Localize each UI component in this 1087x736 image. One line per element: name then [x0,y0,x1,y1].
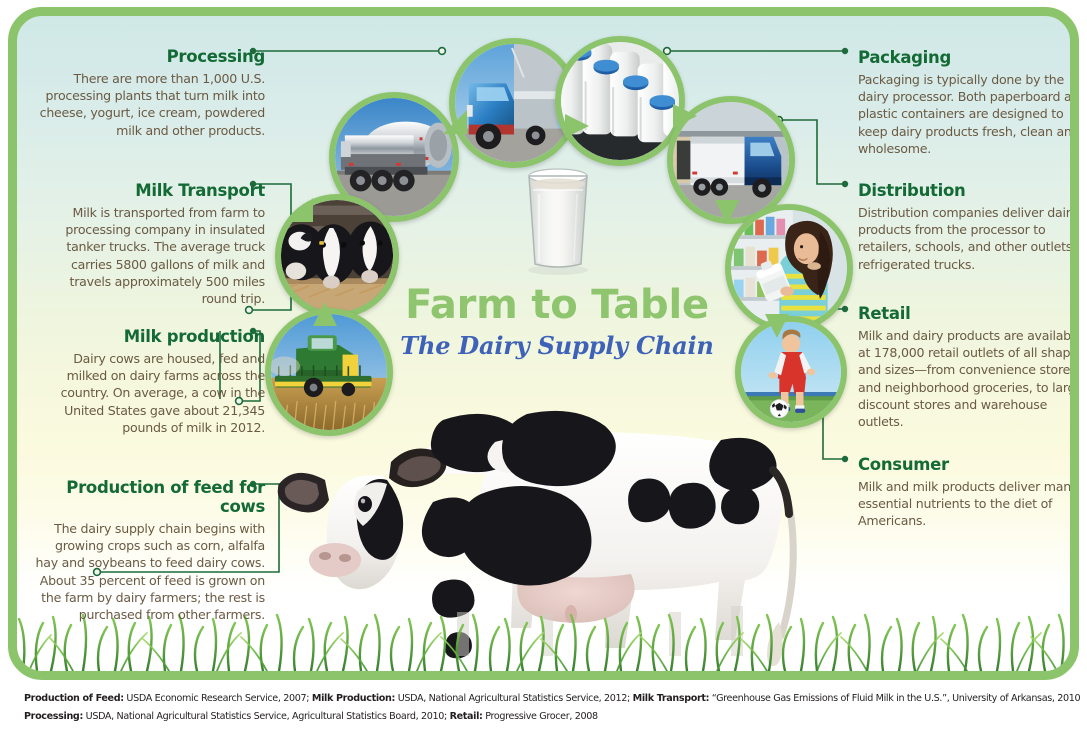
step-heading-production-of-feed: Production of feed for cows [29,479,265,517]
step-heading-milk-production: Milk production [37,328,265,347]
step-body-milk-transport: Milk is transported from farm to process… [37,204,265,308]
photo-node-milk-jugs-packaging[interactable] [555,36,685,166]
source-value-production-of-feed: USDA Economic Research Service, 2007; [124,693,312,704]
step-heading-packaging: Packaging [858,49,1079,68]
source-label-production-of-feed: Production of Feed: [24,693,124,704]
step-heading-processing: Processing [37,48,265,67]
step-heading-retail: Retail [858,305,1079,324]
page-subtitle: The Dairy Supply Chain [377,331,737,360]
glass-of-milk-icon [519,164,597,276]
source-label-milk-production: Milk Production: [312,693,395,704]
step-heading-consumer: Consumer [858,456,1079,475]
step-body-milk-production: Dairy cows are housed, fed and milked on… [37,350,265,436]
step-block-processing: Processing There are more than 1,000 U.S… [37,48,265,139]
photo-node-woman-shopping-milk[interactable] [725,204,853,332]
step-block-retail: Retail Milk and dairy products are avail… [858,305,1079,430]
step-block-distribution: Distribution Distribution companies deli… [858,182,1079,273]
step-block-milk-production: Milk production Dairy cows are housed, f… [37,328,265,436]
step-block-milk-transport: Milk Transport Milk is transported from … [37,182,265,307]
sources-line-1: Production of Feed: USDA Economic Resear… [24,690,1063,708]
page-title: Farm to Table [377,284,737,326]
source-value-retail: Progressive Grocer, 2008 [483,711,598,722]
step-block-production-of-feed: Production of feed for cows The dairy su… [29,479,265,623]
step-heading-distribution: Distribution [858,182,1079,201]
sources-footer: Production of Feed: USDA Economic Resear… [0,690,1087,725]
source-label-processing: Processing: [24,711,83,722]
step-block-packaging: Packaging Packaging is typically done by… [858,49,1079,157]
source-label-retail: Retail: [450,711,483,722]
photo-node-holstein-cows-in-barn[interactable] [275,194,399,318]
glass-of-milk-graphic [519,164,597,276]
source-value-processing: USDA, National Agricultural Statistics S… [83,711,450,722]
step-body-production-of-feed: The dairy supply chain begins with growi… [29,520,265,624]
holstein-cows-in-barn-photo [281,200,393,312]
panel-background: Farm to Table The Dairy Supply Chain [17,16,1070,671]
source-value-milk-production: USDA, National Agricultural Statistics S… [395,693,633,704]
step-heading-milk-transport: Milk Transport [37,182,265,201]
source-label-milk-transport: Milk Transport: [633,693,709,704]
step-body-retail: Milk and dairy products are available at… [858,327,1079,431]
semi-trailer-loading-dock-photo [673,102,789,218]
step-body-processing: There are more than 1,000 U.S. processin… [37,70,265,139]
step-block-consumer: Consumer Milk and milk products deliver … [858,456,1079,530]
step-body-distribution: Distribution companies deliver dairy pro… [858,204,1079,273]
infographic-root: Farm to Table The Dairy Supply Chain [0,0,1087,736]
source-value-milk-transport: “Greenhouse Gas Emissions of Fluid Milk … [709,693,1080,704]
title-block: Farm to Table The Dairy Supply Chain [377,284,737,360]
step-body-packaging: Packaging is typically done by the dairy… [858,71,1079,157]
woman-shopping-milk-photo [731,210,847,326]
sources-line-2: Processing: USDA, National Agricultural … [24,708,1063,726]
infographic-panel: Farm to Table The Dairy Supply Chain [8,7,1079,680]
step-body-consumer: Milk and milk products deliver many esse… [858,478,1079,530]
milk-jugs-packaging-photo [561,42,679,160]
